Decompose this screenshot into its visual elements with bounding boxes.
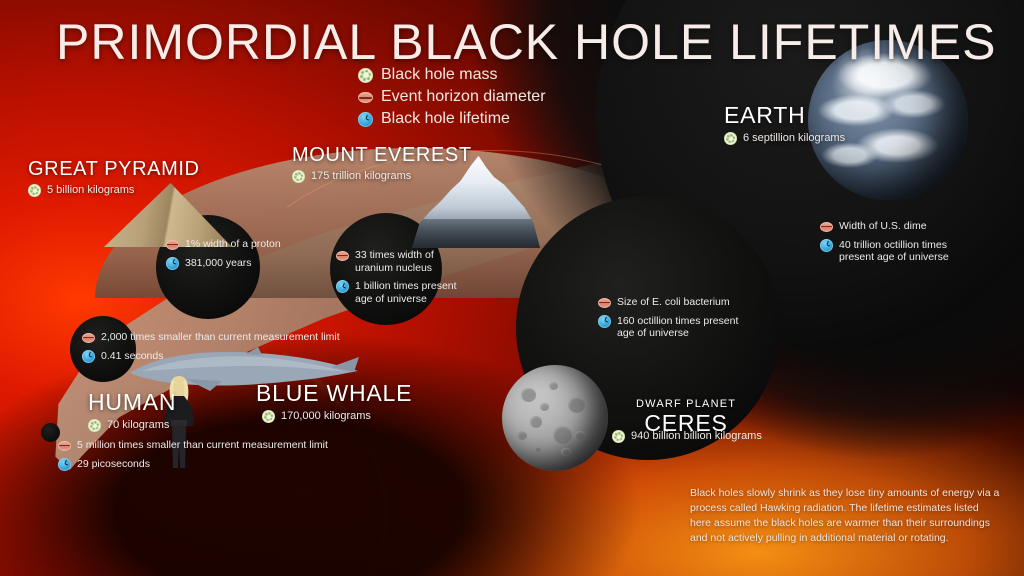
mount-everest-lifetime-value: 1 billion times present age of universe [355, 280, 457, 305]
ceres-diameter-stat: Size of E. coli bacterium [598, 296, 738, 309]
blue-whale-diameter-value: 2,000 times smaller than current measure… [101, 331, 340, 344]
label-earth: EARTH 6 septillion kilograms [724, 102, 845, 145]
earth-name: EARTH [724, 102, 845, 129]
human-mass-stat: 70 kilograms [88, 419, 176, 432]
factbox-mount-everest: 33 times width of uranium nucleus 1 bill… [336, 243, 457, 305]
legend-label-mass: Black hole mass [381, 66, 498, 84]
great-pyramid-mass-value: 5 billion kilograms [47, 184, 134, 197]
page-title: PRIMORDIAL BLACK HOLE LIFETIMES [56, 16, 996, 68]
human-diameter-stat: 5 million times smaller than current mea… [58, 439, 328, 452]
event-horizon-icon [358, 92, 373, 103]
mass-icon [358, 68, 373, 83]
great-pyramid-diameter-stat: 1% width of a proton [166, 238, 281, 251]
earth-diameter-value: Width of U.S. dime [839, 220, 927, 233]
legend-item-mass: Black hole mass [358, 66, 546, 84]
blue-whale-name: BLUE WHALE [256, 380, 412, 407]
event-horizon-icon [82, 333, 95, 343]
mount-everest-mass-value: 175 trillion kilograms [311, 170, 411, 183]
ceres-diameter-value: Size of E. coli bacterium [617, 296, 730, 309]
blue-whale-lifetime-stat: 0.41 seconds [82, 350, 340, 363]
ceres-mass-value: 940 billion billion kilograms [631, 430, 762, 443]
infographic-canvas: PRIMORDIAL BLACK HOLE LIFETIMES Black ho… [0, 0, 1024, 576]
legend-item-lifetime: Black hole lifetime [358, 110, 546, 128]
factbox-great-pyramid: 1% width of a proton 381,000 years [166, 232, 281, 270]
mass-icon [292, 170, 305, 183]
lifetime-clock-icon [336, 280, 349, 293]
legend-item-diameter: Event horizon diameter [358, 88, 546, 106]
lifetime-clock-icon [358, 112, 373, 127]
lifetime-clock-icon [598, 315, 611, 328]
event-horizon-icon [598, 298, 611, 308]
event-horizon-icon [820, 222, 833, 232]
legend-label-diameter: Event horizon diameter [381, 88, 546, 106]
blue-whale-diameter-stat: 2,000 times smaller than current measure… [82, 331, 340, 344]
human-name: HUMAN [88, 389, 176, 416]
lifetime-clock-icon [82, 350, 95, 363]
mount-everest-diameter-stat: 33 times width of uranium nucleus [336, 249, 457, 274]
mass-icon [724, 132, 737, 145]
event-horizon-icon [336, 251, 349, 261]
mass-icon [28, 184, 41, 197]
human-lifetime-value: 29 picoseconds [77, 458, 150, 471]
great-pyramid-mass-stat: 5 billion kilograms [28, 184, 200, 197]
lifetime-clock-icon [166, 257, 179, 270]
factbox-blue-whale: 2,000 times smaller than current measure… [82, 325, 340, 363]
footnote-text: Black holes slowly shrink as they lose t… [690, 486, 1002, 546]
ceres-mass-stat: 940 billion billion kilograms [612, 430, 762, 443]
mount-everest-diameter-value: 33 times width of uranium nucleus [355, 249, 434, 274]
earth-mass-stat: 6 septillion kilograms [724, 132, 845, 145]
great-pyramid-lifetime-stat: 381,000 years [166, 257, 281, 270]
label-mount-everest: MOUNT EVEREST 175 trillion kilograms [292, 144, 472, 183]
legend-label-lifetime: Black hole lifetime [381, 110, 510, 128]
earth-mass-value: 6 septillion kilograms [743, 132, 845, 145]
label-blue-whale: BLUE WHALE 170,000 kilograms [256, 380, 412, 423]
factbox-human: 5 million times smaller than current mea… [58, 433, 328, 471]
earth-diameter-stat: Width of U.S. dime [820, 220, 949, 233]
mass-icon [88, 419, 101, 432]
legend: Black hole mass Event horizon diameter B… [358, 66, 546, 132]
mass-icon [612, 430, 625, 443]
human-mass-value: 70 kilograms [107, 419, 169, 432]
ceres-category: DWARF PLANET [636, 398, 736, 410]
earth-lifetime-stat: 40 trillion octillion times present age … [820, 239, 949, 264]
lifetime-clock-icon [58, 458, 71, 471]
great-pyramid-lifetime-value: 381,000 years [185, 257, 252, 270]
ceres-lifetime-stat: 160 octillion times present age of unive… [598, 315, 738, 340]
label-great-pyramid: GREAT PYRAMID 5 billion kilograms [28, 158, 200, 197]
blue-whale-mass-value: 170,000 kilograms [281, 410, 371, 423]
mount-everest-mass-stat: 175 trillion kilograms [292, 170, 472, 183]
ceres-lifetime-value: 160 octillion times present age of unive… [617, 315, 738, 340]
earth-lifetime-value: 40 trillion octillion times present age … [839, 239, 949, 264]
mass-icon [262, 410, 275, 423]
event-horizon-icon [166, 240, 179, 250]
human-diameter-value: 5 million times smaller than current mea… [77, 439, 328, 452]
factbox-earth: Width of U.S. dime 40 trillion octillion… [820, 214, 949, 264]
label-human: HUMAN 70 kilograms [88, 389, 176, 432]
ceres-image [502, 365, 608, 471]
mount-everest-lifetime-stat: 1 billion times present age of universe [336, 280, 457, 305]
factbox-ceres: Size of E. coli bacterium 160 octillion … [598, 290, 738, 340]
great-pyramid-diameter-value: 1% width of a proton [185, 238, 281, 251]
mount-everest-name: MOUNT EVEREST [292, 144, 472, 167]
blue-whale-lifetime-value: 0.41 seconds [101, 350, 163, 363]
lifetime-clock-icon [820, 239, 833, 252]
human-lifetime-stat: 29 picoseconds [58, 458, 328, 471]
event-horizon-icon [58, 441, 71, 451]
blue-whale-mass-stat: 170,000 kilograms [262, 410, 412, 423]
great-pyramid-name: GREAT PYRAMID [28, 158, 200, 181]
